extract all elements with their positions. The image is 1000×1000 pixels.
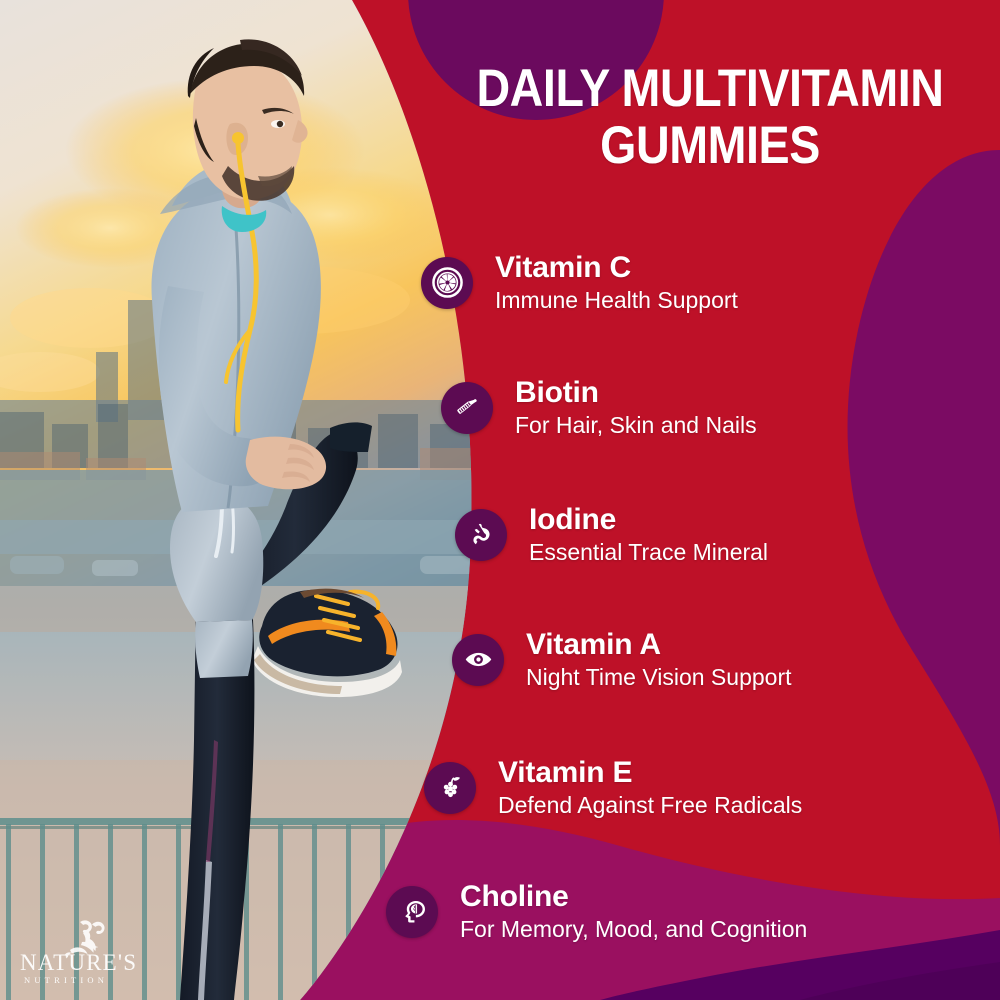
- title-line-1: Daily Multivitamin: [464, 60, 957, 117]
- feature-name: Choline: [460, 880, 807, 914]
- feature-text: Vitamin C Immune Health Support: [495, 251, 738, 314]
- brand-logo: NATURE'S NUTRITION: [18, 918, 168, 990]
- feature-name: Vitamin A: [526, 628, 792, 662]
- feature-name: Iodine: [529, 503, 768, 537]
- feature-desc: Immune Health Support: [495, 287, 738, 315]
- feature-row-vitamin-c[interactable]: Vitamin C Immune Health Support: [421, 251, 738, 314]
- eye-icon: [452, 634, 504, 686]
- head-brain-icon: [386, 886, 438, 938]
- page-title: Daily Multivitamin Gummies: [464, 60, 957, 174]
- feature-desc: For Hair, Skin and Nails: [515, 412, 757, 440]
- feature-text: Vitamin A Night Time Vision Support: [526, 628, 792, 691]
- comb-icon: [441, 382, 493, 434]
- feature-row-biotin[interactable]: Biotin For Hair, Skin and Nails: [441, 376, 757, 439]
- feature-row-choline[interactable]: Choline For Memory, Mood, and Cognition: [386, 880, 807, 943]
- feature-name: Biotin: [515, 376, 757, 410]
- feature-text: Biotin For Hair, Skin and Nails: [515, 376, 757, 439]
- feature-row-vitamin-a[interactable]: Vitamin A Night Time Vision Support: [452, 628, 792, 691]
- citrus-slice-icon: [421, 257, 473, 309]
- hero-photo: [0, 0, 530, 1000]
- feature-desc: Defend Against Free Radicals: [498, 792, 802, 820]
- brand-name: NATURE'S: [20, 950, 137, 975]
- feature-row-vitamin-e[interactable]: Vitamin E Defend Against Free Radicals: [424, 756, 802, 819]
- feature-desc: Essential Trace Mineral: [529, 539, 768, 567]
- feature-name: Vitamin C: [495, 251, 738, 285]
- feature-text: Choline For Memory, Mood, and Cognition: [460, 880, 807, 943]
- feature-name: Vitamin E: [498, 756, 802, 790]
- stomach-icon: [455, 509, 507, 561]
- feature-text: Iodine Essential Trace Mineral: [529, 503, 768, 566]
- photo-content: [0, 0, 530, 1000]
- feature-desc: For Memory, Mood, and Cognition: [460, 916, 807, 944]
- grapes-icon: [424, 762, 476, 814]
- brand-tagline: NUTRITION: [24, 975, 108, 985]
- title-line-2: Gummies: [464, 117, 957, 174]
- feature-row-iodine[interactable]: Iodine Essential Trace Mineral: [455, 503, 768, 566]
- feature-desc: Night Time Vision Support: [526, 664, 792, 692]
- feature-text: Vitamin E Defend Against Free Radicals: [498, 756, 802, 819]
- infographic-canvas: Daily Multivitamin Gummies: [0, 0, 1000, 1000]
